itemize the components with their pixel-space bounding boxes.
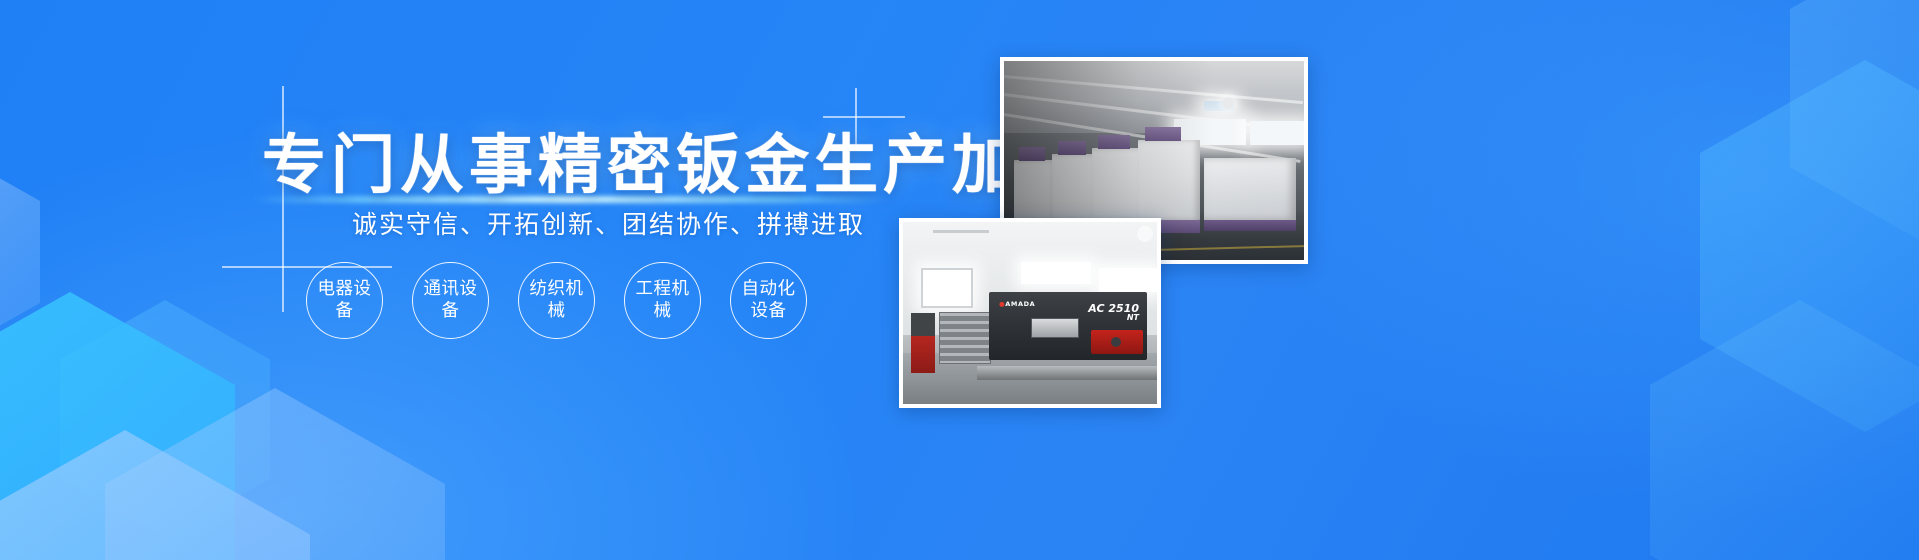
- hexagon-decoration-icon: [1650, 300, 1919, 560]
- factory-photo-amada: ●AMADA AC 2510 NT: [899, 218, 1161, 408]
- hexagon-decoration-icon: [1790, 0, 1919, 246]
- amada-press-illustration: ●AMADA AC 2510 NT: [903, 222, 1157, 404]
- hero-banner: 专门从事精密钣金生产加工 诚实守信、开拓创新、团结协作、拼搏进取 电器设备 通讯…: [0, 0, 1919, 560]
- category-badge[interactable]: 工程机械: [624, 262, 701, 339]
- banner-headline: 专门从事精密钣金生产加工: [262, 114, 1090, 206]
- hexagon-decoration-icon: [1700, 60, 1919, 432]
- category-badge[interactable]: 通讯设备: [412, 262, 489, 339]
- category-badge-list: 电器设备 通讯设备 纺织机械 工程机械 自动化设备: [306, 262, 807, 339]
- category-badge[interactable]: 电器设备: [306, 262, 383, 339]
- photo-watermark-icon: [1137, 226, 1153, 242]
- category-badge[interactable]: 纺织机械: [518, 262, 595, 339]
- amada-model-label: AC 2510 NT: [1088, 303, 1139, 322]
- banner-subtitle: 诚实守信、开拓创新、团结协作、拼搏进取: [352, 205, 865, 241]
- category-badge[interactable]: 自动化设备: [730, 262, 807, 339]
- amada-brand-label: ●AMADA: [999, 300, 1035, 308]
